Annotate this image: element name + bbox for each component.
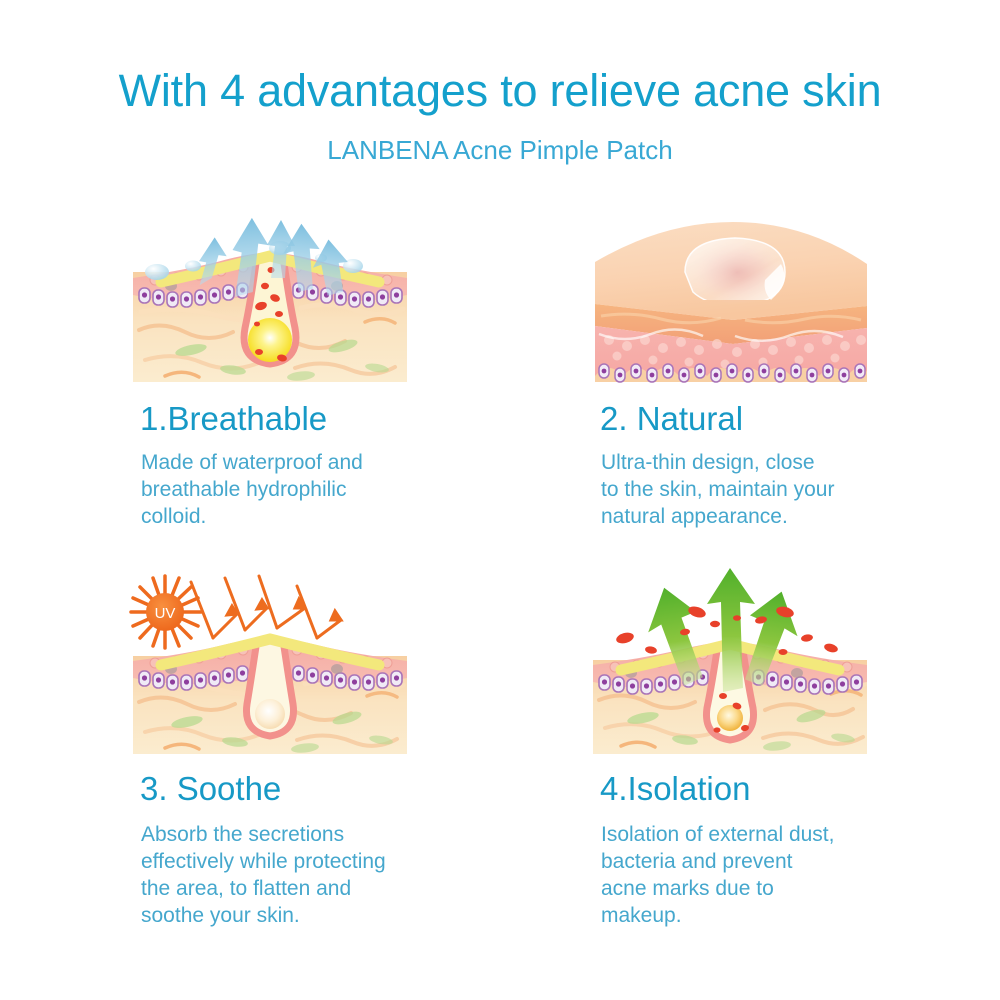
- uv-label: UV: [155, 605, 176, 622]
- feature-heading-natural: 2. Natural: [600, 400, 743, 438]
- feature-body-soothe: Absorb the secretions effectively while …: [141, 822, 471, 930]
- feature-heading-isolation: 4.Isolation: [600, 770, 750, 808]
- uv-sun-icon: UV: [125, 560, 415, 760]
- feature-heading-soothe: 3. Soothe: [140, 770, 281, 808]
- upward-green-arrows-icon: [585, 560, 875, 760]
- page-title: With 4 advantages to relieve acne skin: [0, 66, 1000, 116]
- feature-heading-breathable: 1.Breathable: [140, 400, 327, 438]
- skin-block-natural-figure: [585, 200, 875, 390]
- feature-body-breathable: Made of waterproof and breathable hydrop…: [141, 450, 441, 531]
- page-subtitle: LANBENA Acne Pimple Patch: [0, 135, 1000, 166]
- feature-body-isolation: Isolation of external dust, bacteria and…: [601, 822, 921, 930]
- feature-card-breathable: 1.Breathable Made of waterproof and brea…: [125, 200, 585, 390]
- feature-card-isolation: 4.Isolation Isolation of external dust, …: [585, 560, 1000, 760]
- skin-cross-section-breathable-figure: [125, 200, 415, 390]
- feature-grid: 1.Breathable Made of waterproof and brea…: [0, 200, 1000, 1000]
- feature-card-soothe: UV: [125, 560, 585, 760]
- upward-blue-arrows-icon: [125, 200, 415, 390]
- skin-cross-section-isolation-figure: [585, 560, 875, 760]
- translucent-patch-icon: [585, 200, 875, 390]
- skin-cross-section-soothe-figure: UV: [125, 560, 415, 760]
- feature-card-natural: 2. Natural Ultra-thin design, close to t…: [585, 200, 1000, 390]
- uv-sun-glyph: UV: [131, 576, 201, 648]
- feature-body-natural: Ultra-thin design, close to the skin, ma…: [601, 450, 921, 531]
- infographic-page: With 4 advantages to relieve acne skin L…: [0, 0, 1000, 1000]
